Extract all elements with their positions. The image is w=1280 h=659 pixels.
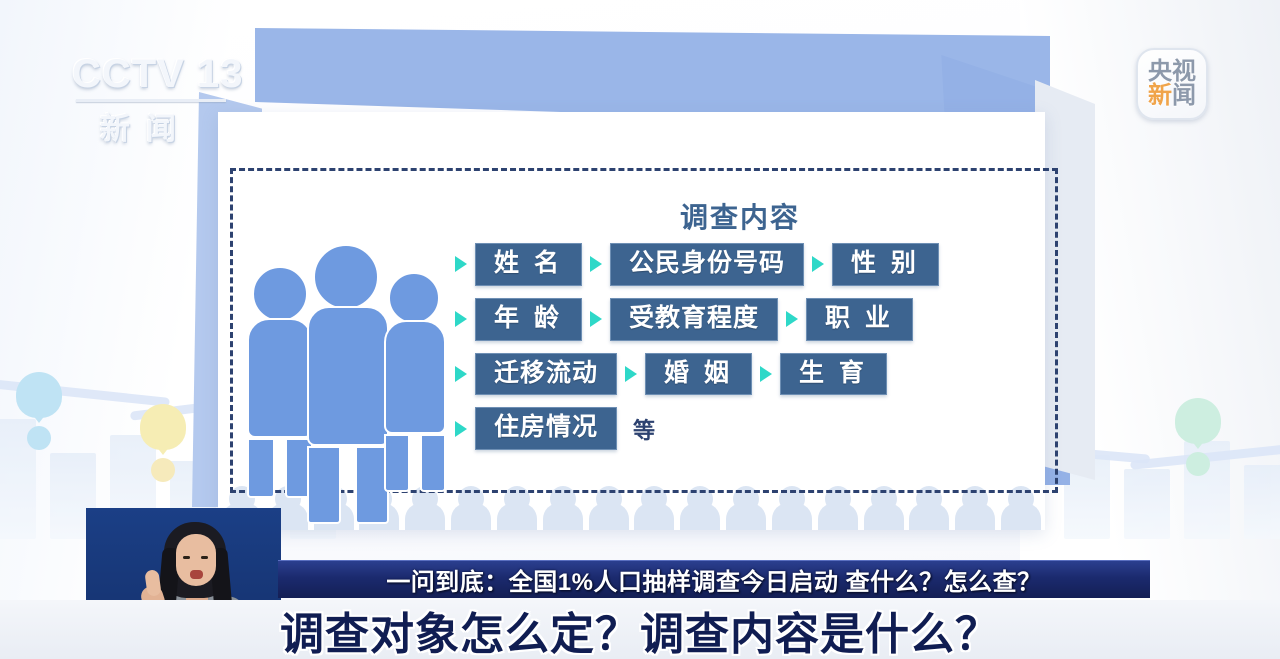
corner-logo-char-4: 闻 — [1172, 84, 1196, 108]
survey-item-chip[interactable]: 职 业 — [806, 298, 913, 341]
survey-item-chip[interactable]: 受教育程度 — [610, 298, 778, 341]
survey-item-chip[interactable]: 住房情况 — [475, 407, 617, 450]
survey-row-2: 年 龄 受教育程度 职 业 — [455, 298, 1035, 341]
survey-row-4: 住房情况 等 — [455, 407, 1035, 450]
survey-item-chip[interactable]: 生 育 — [780, 353, 887, 396]
bullet-triangle-icon — [455, 421, 467, 437]
decorative-pin-green — [1175, 398, 1221, 476]
bullet-triangle-icon — [455, 366, 467, 382]
corner-logo-char-3: 新 — [1148, 84, 1172, 108]
cctv-news-corner-logo: 央 视 新 闻 — [1136, 48, 1208, 120]
bullet-triangle-icon — [625, 366, 637, 382]
bullet-triangle-icon — [455, 311, 467, 327]
cctv-logo-line1: CCTV 13 — [72, 52, 272, 97]
panel-title: 调查内容 — [610, 196, 870, 236]
person-left-icon — [252, 266, 313, 438]
corner-logo-char-1: 央 — [1148, 60, 1172, 84]
survey-item-chip[interactable]: 公民身份号码 — [610, 243, 804, 286]
headline-text: 一问到底：全国1%人口抽样调查今日启动 查什么？怎么查？ — [386, 562, 1041, 597]
bullet-triangle-icon — [590, 311, 602, 327]
etcetera-label: 等 — [633, 413, 655, 445]
person-right-icon — [384, 272, 446, 434]
person-center-icon — [307, 244, 389, 446]
cctv-logo-line2: 新闻 — [100, 104, 272, 148]
survey-item-chip[interactable]: 迁移流动 — [475, 353, 617, 396]
three-people-icon — [252, 238, 452, 473]
news-ticker-banner: 一问到底：全国1%人口抽样调查今日启动 查什么？怎么查？ — [278, 560, 1150, 598]
bullet-triangle-icon — [590, 256, 602, 272]
survey-item-chip[interactable]: 婚 姻 — [645, 353, 752, 396]
bullet-triangle-icon — [812, 256, 824, 272]
bullet-triangle-icon — [760, 366, 772, 382]
survey-item-chip[interactable]: 姓 名 — [475, 243, 582, 286]
survey-content-list: 姓 名 公民身份号码 性 别 年 龄 受教育程度 职 业 迁移流动 婚 姻 生 … — [455, 243, 1035, 462]
survey-item-chip[interactable]: 性 别 — [832, 243, 939, 286]
decorative-pin-blue — [16, 372, 62, 450]
cctv13-logo: CCTV 13 新闻 — [72, 52, 272, 132]
survey-row-1: 姓 名 公民身份号码 性 别 — [455, 243, 1035, 286]
cctv-logo-rule — [76, 99, 226, 102]
bullet-triangle-icon — [455, 256, 467, 272]
decorative-pin-yellow — [140, 404, 186, 482]
subtitle-text: 调查对象怎么定？调查内容是什么？ — [280, 598, 1000, 659]
corner-logo-char-2: 视 — [1172, 60, 1196, 84]
survey-item-chip[interactable]: 年 龄 — [475, 298, 582, 341]
subtitle-bar: 调查对象怎么定？调查内容是什么？ — [0, 600, 1280, 659]
broadcast-frame: 调查内容 姓 名 公民身份号码 性 别 年 龄 受教育程度 职 业 迁移流动 婚… — [0, 0, 1280, 659]
survey-row-3: 迁移流动 婚 姻 生 育 — [455, 353, 1035, 396]
bullet-triangle-icon — [786, 311, 798, 327]
